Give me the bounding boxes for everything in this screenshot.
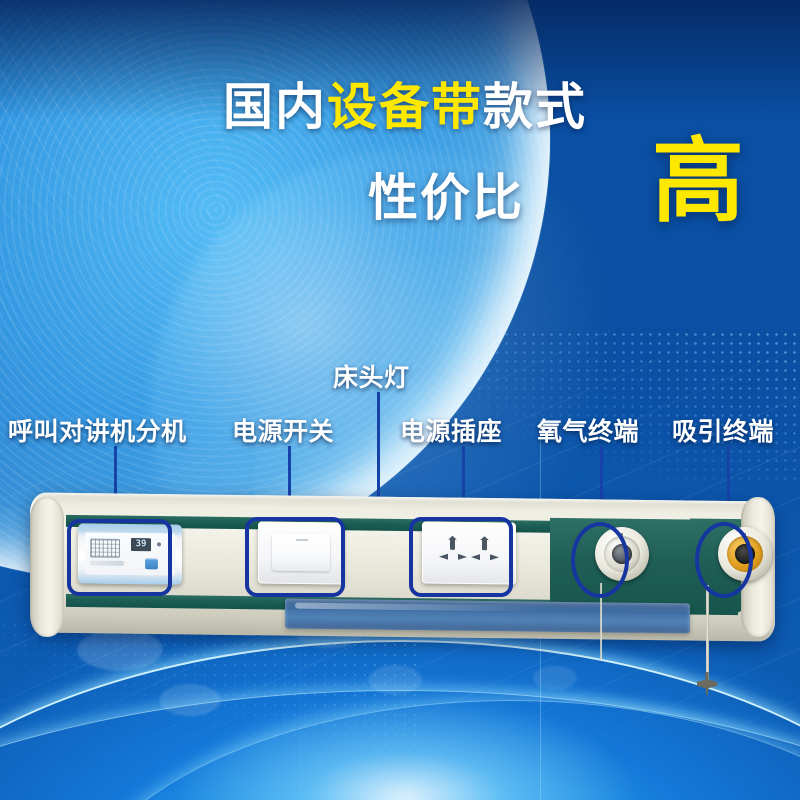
diffuser-highlight	[295, 603, 545, 612]
headline-price-ratio: 性价比	[368, 158, 524, 230]
headline-line-1: 国内设备带款式	[0, 82, 800, 132]
bottom-glow	[170, 690, 640, 800]
callout-label-power-switch: 电源开关	[232, 412, 334, 448]
highlight-oxygen	[571, 522, 629, 598]
highlight-socket	[409, 517, 513, 597]
headline-part-2: 设备带	[327, 79, 483, 135]
headline-part-3: 款式	[483, 79, 587, 135]
callout-label-call-intercom-extension: 呼叫对讲机分机	[8, 412, 187, 448]
callout-label-suction-terminal: 吸引终端	[672, 412, 774, 448]
bed-head-lamp-diffuser	[285, 599, 690, 634]
panel-end-cap-left	[30, 497, 64, 637]
highlight-switch	[245, 517, 345, 597]
callout-label-power-socket: 电源插座	[400, 412, 502, 448]
headline-part-1: 国内	[223, 79, 327, 135]
suction-hanging-tube	[706, 585, 709, 680]
highlight-intercom	[67, 519, 172, 596]
highlight-suction	[695, 522, 753, 598]
product-banner: 国内设备带款式 性价比 高 呼叫对讲机分机 床头灯 电源开关 电源插座 氧气终端…	[0, 0, 800, 800]
callout-label-bed-head-lamp: 床头灯	[333, 358, 410, 394]
headline-block: 国内设备带款式 性价比 高	[0, 82, 800, 132]
headline-accent-gao: 高	[652, 136, 744, 228]
callout-label-oxygen-terminal: 氧气终端	[537, 412, 639, 448]
